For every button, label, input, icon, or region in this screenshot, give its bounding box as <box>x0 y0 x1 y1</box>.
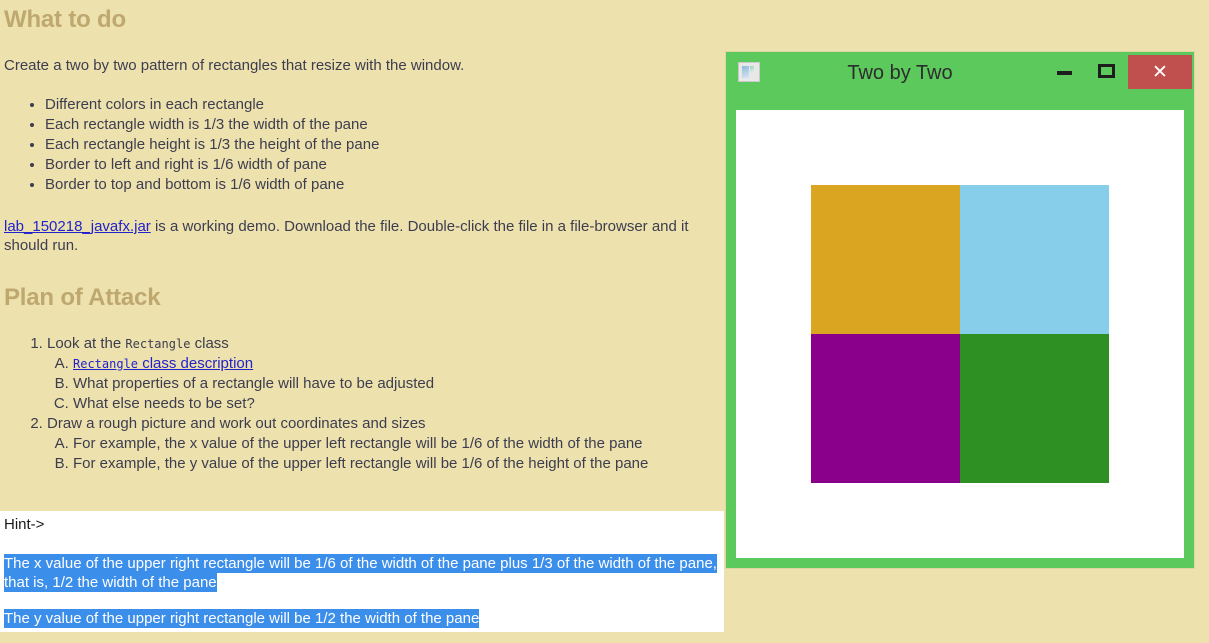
plan-item-1-text-before: Look at the <box>47 335 125 352</box>
demo-jar-link[interactable]: lab_150218_javafx.jar <box>4 218 151 235</box>
maximize-button[interactable] <box>1086 54 1126 88</box>
hint-line-2-block: The y value of the upper right rectangle… <box>4 609 724 628</box>
window-content-pane <box>736 110 1184 558</box>
maximize-icon <box>1098 64 1115 78</box>
heading-plan-of-attack: Plan of Attack <box>4 279 716 312</box>
list-item: What else needs to be set? <box>73 394 716 414</box>
close-button[interactable]: ✕ <box>1128 55 1192 89</box>
minimize-button[interactable] <box>1044 56 1084 90</box>
hint-line-1-block: The x value of the upper right rectangle… <box>4 554 724 592</box>
rectangle-lower-right <box>960 334 1109 483</box>
list-item: What properties of a rectangle will have… <box>73 374 716 394</box>
rectangle-lower-left <box>811 334 960 483</box>
list-item: Border to left and right is 1/6 width of… <box>45 155 716 175</box>
rectangle-upper-left <box>811 185 960 334</box>
intro-paragraph: Create a two by two pattern of rectangle… <box>4 56 716 75</box>
window-titlebar[interactable]: Two by Two ✕ <box>726 52 1194 96</box>
rectangle-class-description-link[interactable]: Rectangle class description <box>73 355 253 372</box>
list-item: Rectangle class description <box>73 354 716 374</box>
javafx-application-window[interactable]: Two by Two ✕ <box>726 52 1194 568</box>
list-item: For example, the x value of the upper le… <box>73 434 716 454</box>
list-item: Border to top and bottom is 1/6 width of… <box>45 175 716 195</box>
list-item: Each rectangle width is 1/3 the width of… <box>45 115 716 135</box>
hint-line-2-text: The y value of the upper right rectangle… <box>4 609 479 628</box>
rectangle-upper-right <box>960 185 1109 334</box>
plan-item-2-text: Draw a rough picture and work out coordi… <box>47 415 426 432</box>
list-item: Draw a rough picture and work out coordi… <box>47 414 716 474</box>
hint-panel: Hint-> The x value of the upper right re… <box>0 511 724 632</box>
list-item: Different colors in each rectangle <box>45 95 716 115</box>
demo-download-paragraph: lab_150218_javafx.jar is a working demo.… <box>4 217 704 255</box>
list-item: Look at the Rectangle class Rectangle cl… <box>47 334 716 414</box>
plan-item-1-sublist: Rectangle class description What propert… <box>47 354 716 414</box>
hint-line-1-text: The x value of the upper right rectangle… <box>4 554 717 592</box>
two-by-two-rectangle-grid <box>811 185 1110 484</box>
heading-what-to-do: What to do <box>4 0 716 34</box>
plan-item-2-sublist: For example, the x value of the upper le… <box>47 434 716 474</box>
list-item: For example, the y value of the upper le… <box>73 454 716 474</box>
rectangle-code-token: Rectangle <box>73 357 138 371</box>
rectangle-link-label: class description <box>138 355 253 372</box>
plan-item-1-code: Rectangle <box>125 337 190 351</box>
minimize-icon <box>1057 71 1072 75</box>
hint-label: Hint-> <box>4 516 724 534</box>
list-item: Each rectangle height is 1/3 the height … <box>45 135 716 155</box>
requirements-list: Different colors in each rectangle Each … <box>4 95 716 195</box>
plan-of-attack-list: Look at the Rectangle class Rectangle cl… <box>4 334 716 474</box>
plan-item-1-text-after: class <box>190 335 228 352</box>
